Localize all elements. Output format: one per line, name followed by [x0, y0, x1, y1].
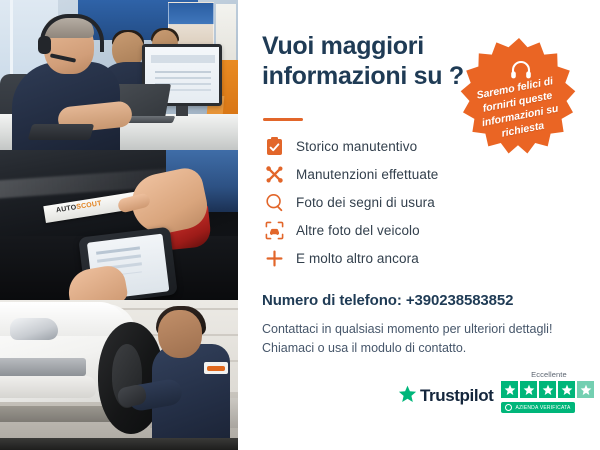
star-filled — [501, 381, 518, 398]
page-title-line-2: informazioni su ? — [262, 62, 472, 92]
feature-list: Storico manutentivo Manutenzi — [262, 132, 582, 272]
phone-number[interactable]: Numero di telefono: +390238583852 — [262, 292, 513, 309]
content-panel: Vuoi maggiori informazioni su ? Saremo f… — [238, 0, 600, 450]
tools-cross-icon — [262, 162, 286, 186]
strip-brand-part2: SCOUT — [76, 200, 102, 211]
verified-business-badge: AZIENDA VERIFICATA — [501, 402, 574, 413]
clipboard-check-icon — [262, 134, 286, 158]
strip-brand-label: AUTOSCOUT — [56, 200, 103, 214]
mechanic-head — [158, 310, 202, 358]
feature-label: Altre foto del veicolo — [296, 223, 420, 238]
feature-item-more: E molto altro ancora — [262, 244, 582, 272]
uniform-logo-patch — [204, 362, 228, 374]
floor-edge-shadow — [0, 438, 238, 450]
call-center-agents-photo — [0, 0, 238, 150]
page-title-line-1: Vuoi maggiori — [262, 32, 472, 62]
star-filled — [520, 381, 537, 398]
plus-icon — [262, 246, 286, 270]
star-filled — [558, 381, 575, 398]
photo-column: AUTOSCOUT — [0, 0, 238, 450]
trustpilot-logo: Trustpilot — [398, 385, 493, 408]
contact-line-2: Chiamaci o usa il modulo di contatto. — [262, 339, 562, 358]
trustpilot-rating-label: Eccellente — [501, 370, 596, 379]
trustpilot-wordmark: Trustpilot — [420, 386, 493, 406]
trustpilot-stars — [501, 381, 596, 398]
desk-tablet — [28, 124, 95, 140]
monitor-stand — [176, 106, 188, 116]
tablet-text-lines — [96, 246, 140, 254]
strip-brand-part1: AUTO — [56, 204, 77, 214]
headset-earcup — [38, 36, 51, 54]
feature-label: Manutenzioni effettuate — [296, 167, 438, 182]
paint-thickness-check-photo: AUTOSCOUT — [0, 150, 238, 300]
feature-item-vehicle-photos: Altre foto del veicolo — [262, 216, 582, 244]
promo-banner: AUTOSCOUT — [0, 0, 600, 450]
title-divider — [263, 118, 303, 121]
feature-label: Foto dei segni di usura — [296, 195, 435, 210]
wheel-inspection-photo — [0, 300, 238, 450]
magnifier-icon — [262, 190, 286, 214]
feature-label: E molto altro ancora — [296, 251, 419, 266]
car-headlight — [10, 318, 58, 340]
feature-item-maintenance-history: Storico manutentivo — [262, 132, 582, 160]
car-scan-icon — [262, 218, 286, 242]
star-half — [577, 381, 594, 398]
monitor-toolbar — [151, 55, 215, 63]
feature-item-wear-photos: Foto dei segni di usura — [262, 188, 582, 216]
verified-check-icon — [505, 404, 512, 411]
monitor-content-rows — [155, 71, 211, 73]
feature-item-maintenance-done: Manutenzioni effettuate — [262, 160, 582, 188]
feature-label: Storico manutentivo — [296, 139, 417, 154]
contact-instructions: Contattaci in qualsiasi momento per ulte… — [262, 320, 562, 359]
verified-label: AZIENDA VERIFICATA — [515, 405, 570, 411]
contact-line-1: Contattaci in qualsiasi momento per ulte… — [262, 320, 562, 339]
car-grille — [0, 358, 86, 376]
trustpilot-star-icon — [398, 385, 417, 408]
trustpilot-rating: Eccellente — [501, 370, 596, 416]
trustpilot-widget[interactable]: Trustpilot Eccellente — [398, 370, 596, 416]
page-title: Vuoi maggiori informazioni su ? — [262, 32, 472, 91]
headset-icon — [510, 60, 532, 80]
star-filled — [539, 381, 556, 398]
car-bumper — [0, 376, 96, 398]
